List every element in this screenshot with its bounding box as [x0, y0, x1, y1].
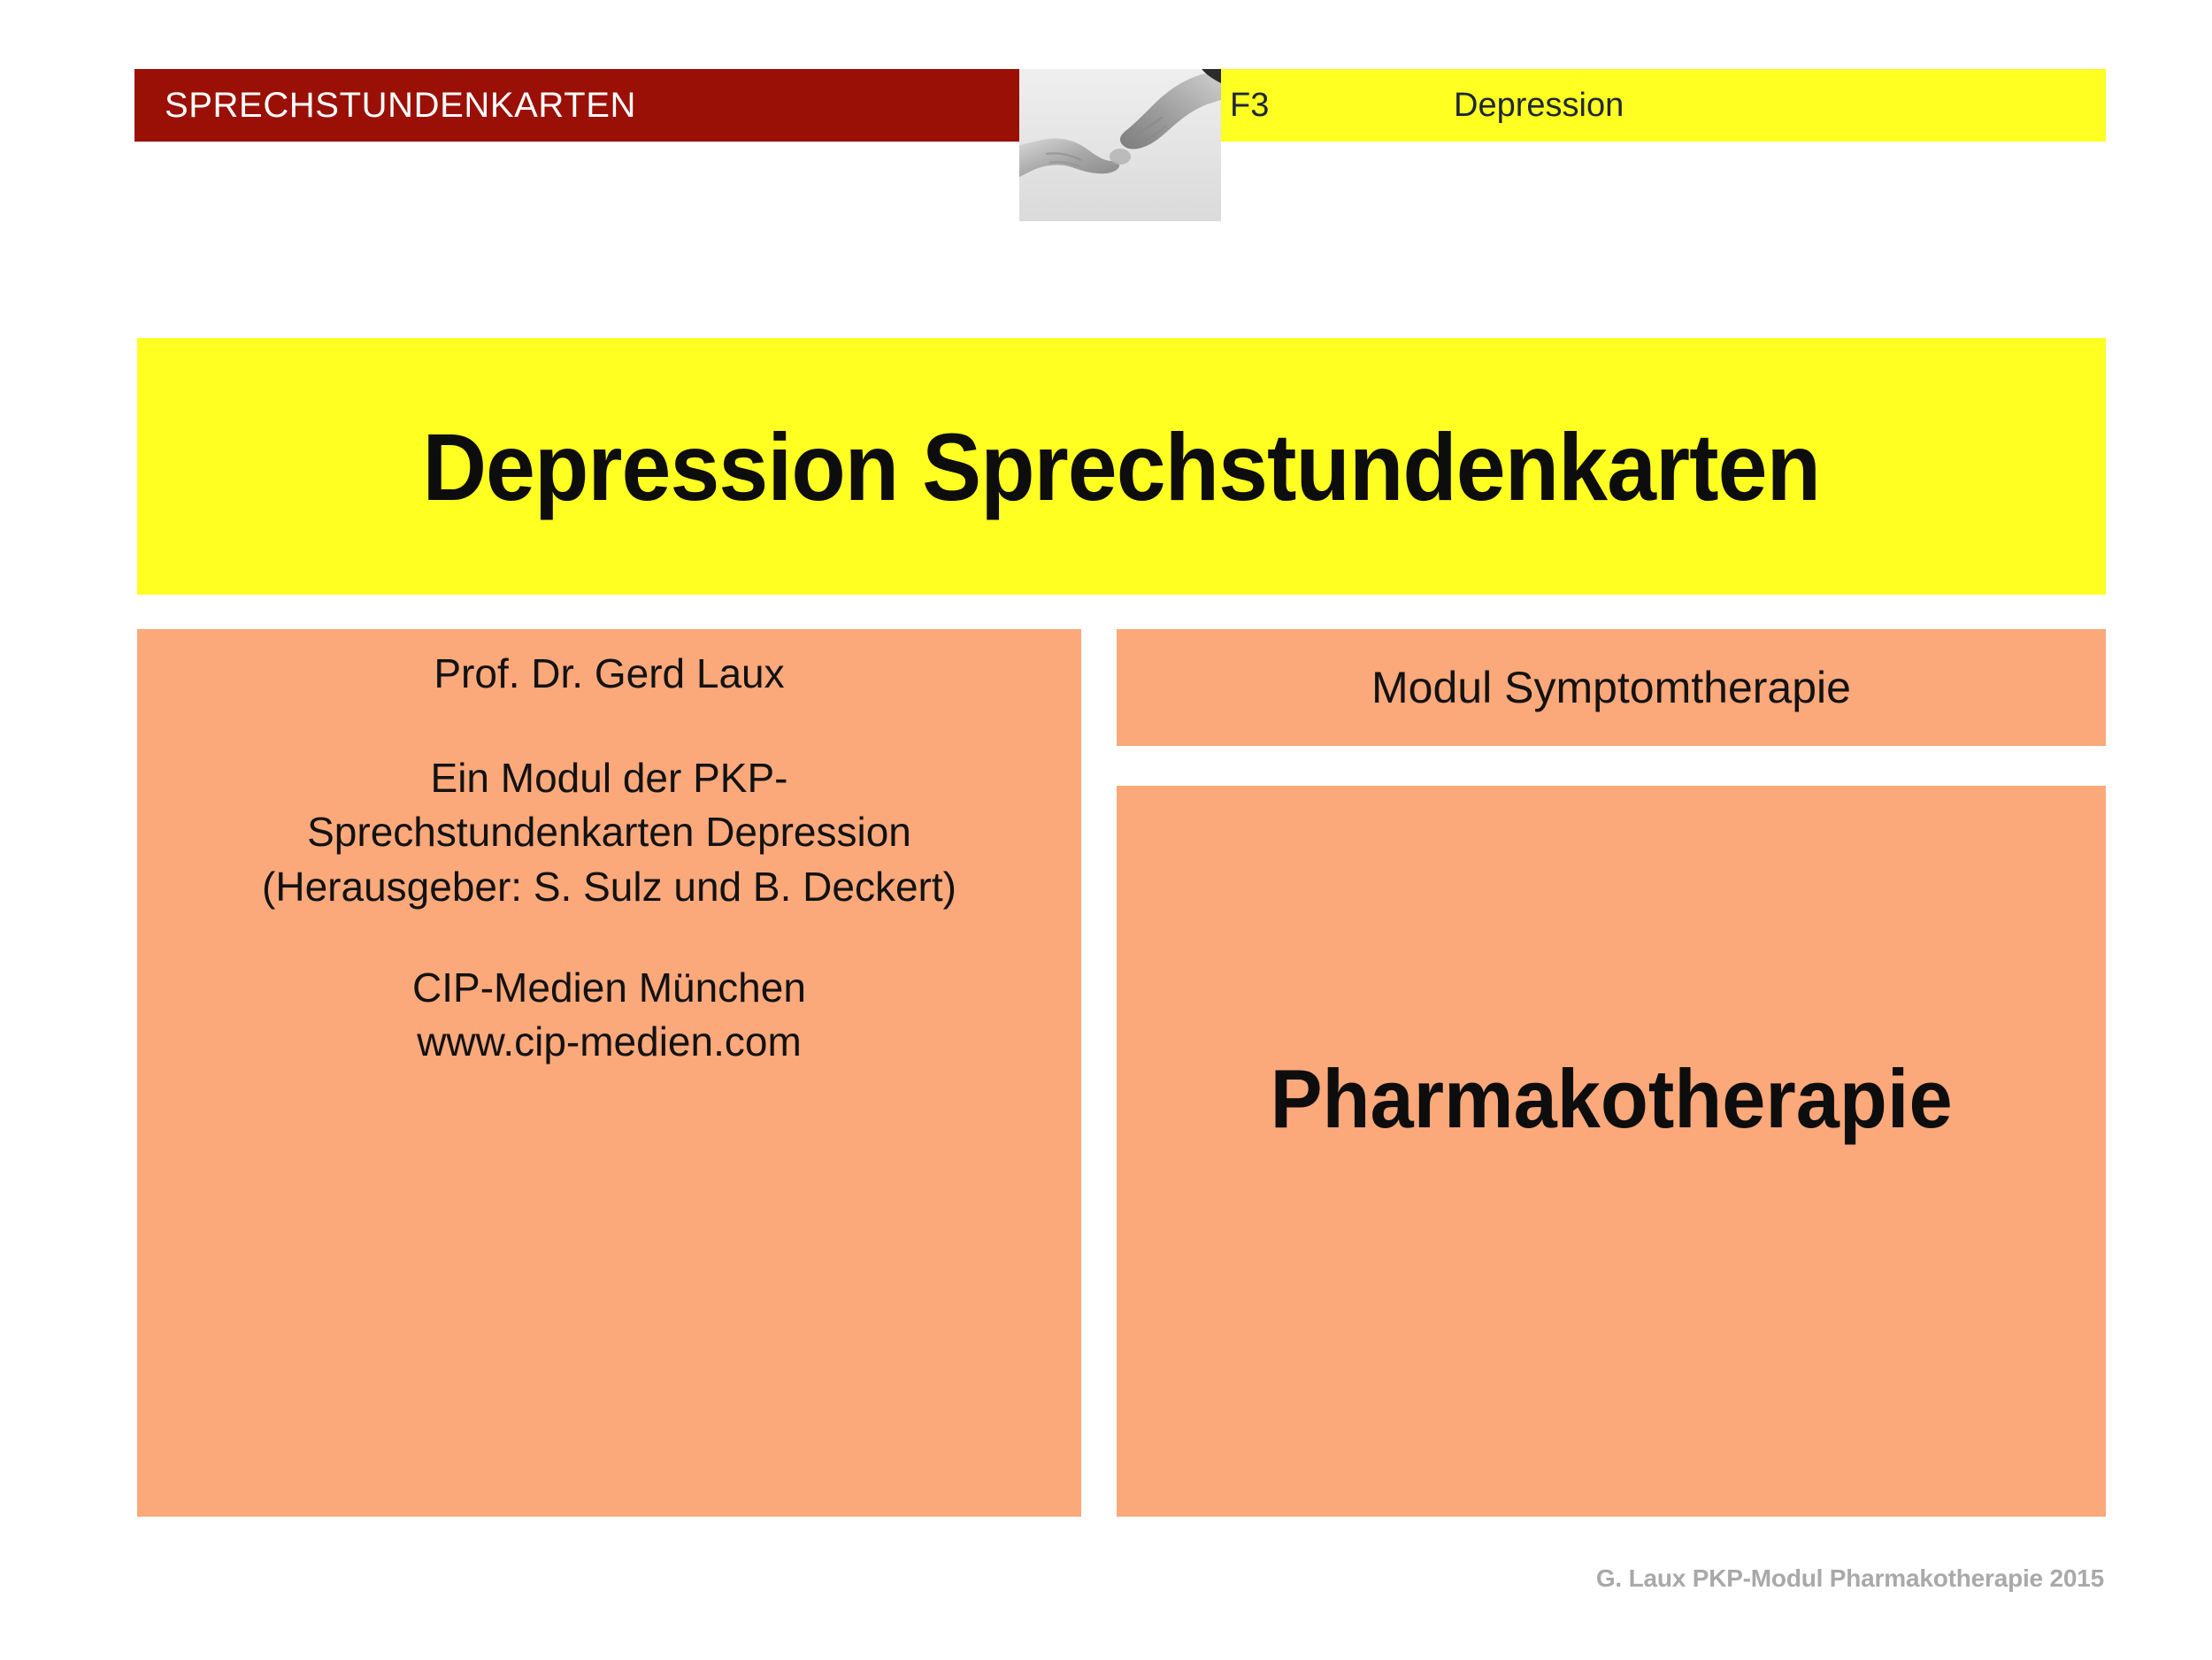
header-brand-bar: SPRECHSTUNDENKARTEN — [134, 69, 1019, 142]
editors-line: (Herausgeber: S. Sulz und B. Deckert) — [137, 860, 1081, 915]
footer-attribution: G. Laux PKP-Modul Pharmakotherapie 2015 — [1596, 1564, 2104, 1593]
credits-text-block: Prof. Dr. Gerd Laux Ein Modul der PKP- S… — [137, 647, 1081, 1070]
header-brand-label: SPRECHSTUNDENKARTEN — [134, 86, 636, 126]
module-label-panel: Modul Symptomtherapie — [1117, 629, 2106, 746]
module-line-1: Ein Modul der PKP- — [137, 751, 1081, 806]
header-topic-label: Depression — [1454, 69, 1624, 142]
module-line-2: Sprechstundenkarten Depression — [137, 805, 1081, 860]
credits-panel: Prof. Dr. Gerd Laux Ein Modul der PKP- S… — [137, 629, 1081, 1517]
module-symptomtherapie-label: Modul Symptomtherapie — [1371, 662, 1851, 713]
credits-spacer-2 — [137, 915, 1081, 961]
header-topic-bar — [1221, 69, 2106, 142]
credits-spacer-1 — [137, 702, 1081, 751]
publisher-line: CIP-Medien München — [137, 961, 1081, 1016]
website-line[interactable]: www.cip-medien.com — [137, 1015, 1081, 1070]
two-hands-reaching-photo-icon — [1019, 69, 1221, 221]
slide-canvas: SPRECHSTUNDENKARTEN — [0, 0, 2212, 1660]
slide-title-band: Depression Sprechstundenkarten — [137, 338, 2106, 595]
header-icd-code: F3 — [1230, 69, 1269, 142]
page-title: Depression Sprechstundenkarten — [423, 411, 1821, 522]
author-line: Prof. Dr. Gerd Laux — [137, 647, 1081, 702]
pharmakotherapie-label: Pharmakotherapie — [1270, 1051, 1952, 1147]
pharmakotherapie-panel: Pharmakotherapie — [1117, 786, 2106, 1517]
